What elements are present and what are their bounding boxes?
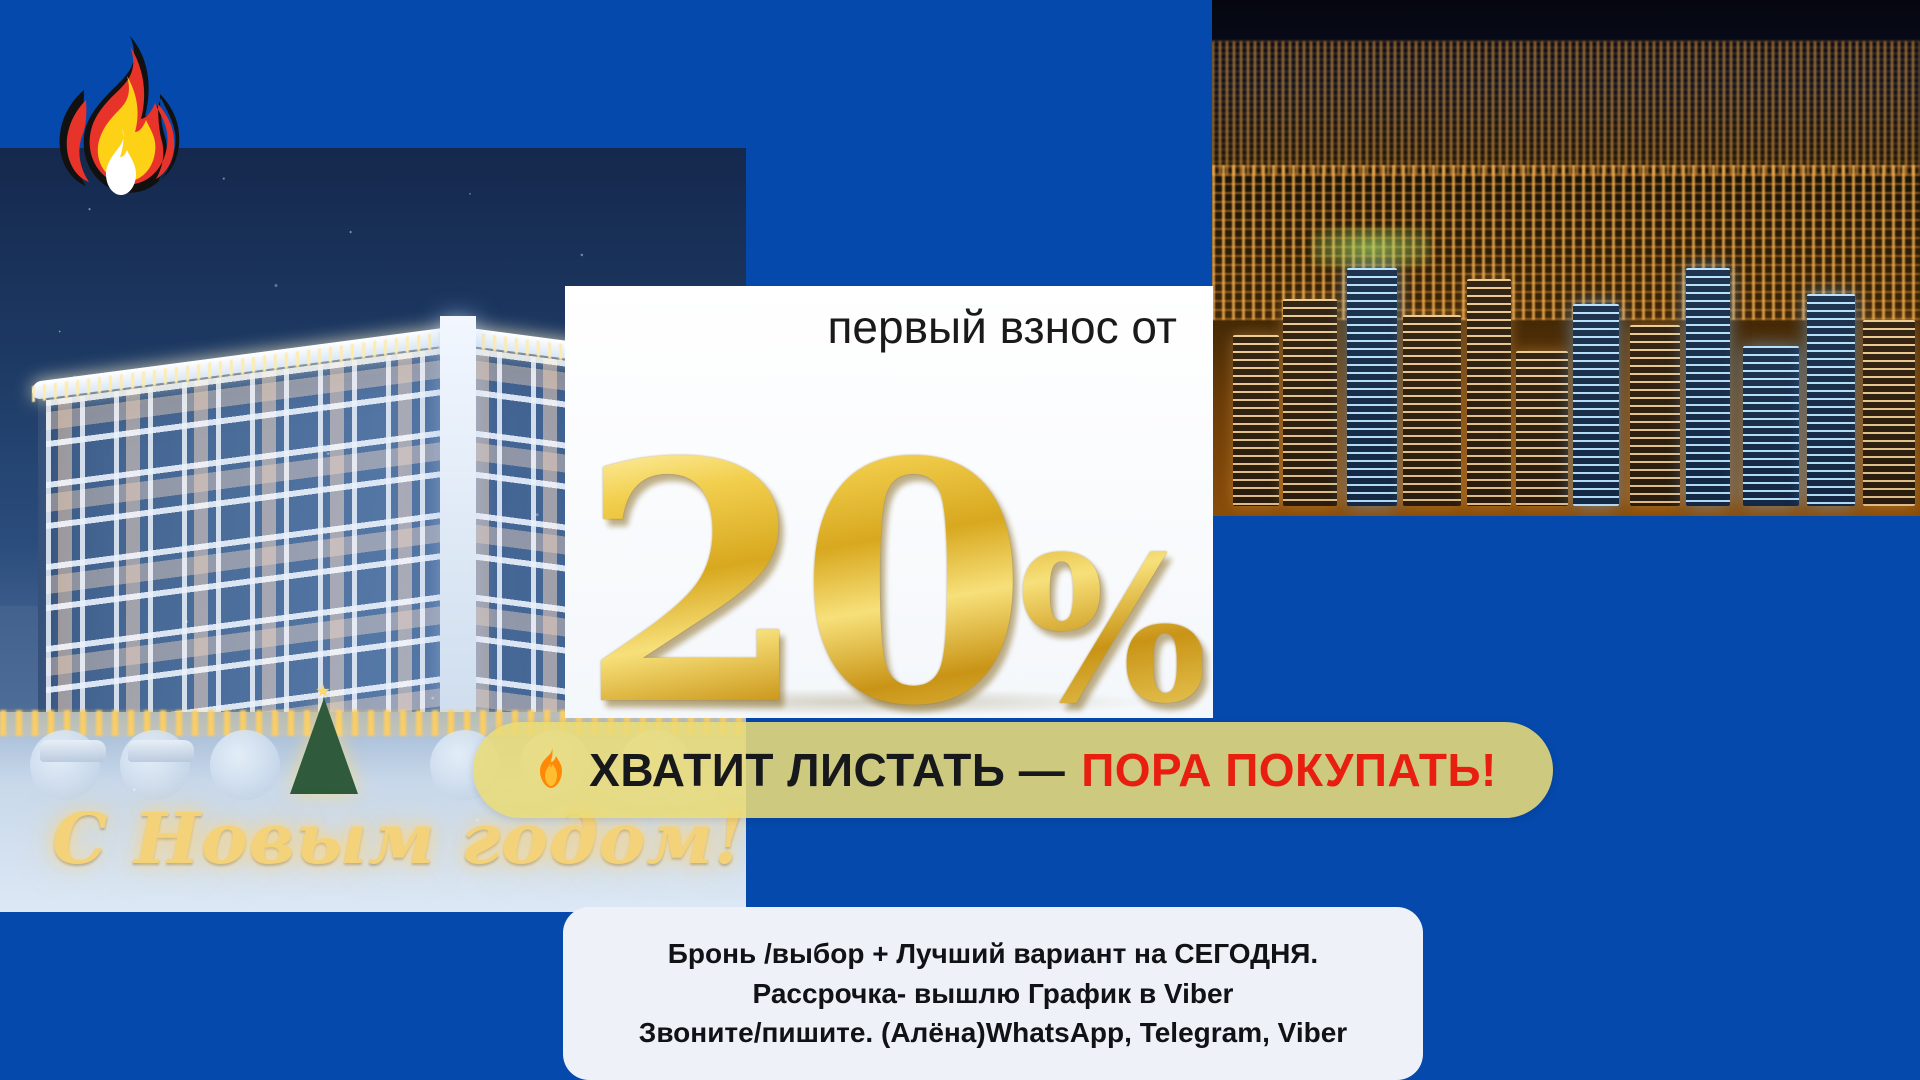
cta-banner[interactable]: ХВАТИТ ЛИСТАТЬ — ПОРА ПОКУПАТЬ! (473, 722, 1553, 818)
contact-line-booking: Бронь /выбор + Лучший вариант на СЕГОДНЯ… (668, 934, 1318, 974)
cta-text-primary: ХВАТИТ ЛИСТАТЬ — (589, 743, 1065, 797)
city-tower (1807, 294, 1855, 506)
down-payment-value: 20% (579, 444, 1202, 719)
city-tower (1743, 346, 1799, 506)
city-tower (1573, 304, 1619, 505)
contact-line-channels: Звоните/пишите. (Алёна)WhatsApp, Telegra… (639, 1013, 1347, 1053)
city-tower (1283, 299, 1337, 505)
city-tower (1347, 268, 1397, 505)
down-payment-caption: первый взнос от (828, 300, 1177, 354)
distant-city-lights (1212, 41, 1920, 175)
city-tower (1630, 325, 1680, 506)
city-tower (1403, 315, 1461, 506)
city-tower (1516, 351, 1568, 506)
percent-sign: % (1018, 513, 1202, 719)
slide-canvas: С Новым годом! первый взнос от 20% (0, 0, 1920, 1080)
contact-info-box[interactable]: Бронь /выбор + Лучший вариант на СЕГОДНЯ… (563, 907, 1423, 1080)
city-tower (1233, 335, 1279, 505)
fire-emoji-icon (44, 32, 194, 222)
city-tower (1467, 279, 1511, 506)
night-cityscape-photo (1212, 0, 1920, 516)
lit-sports-field (1311, 227, 1431, 269)
city-tower (1863, 320, 1915, 506)
contact-line-installments: Рассрочка- вышлю График в Viber (753, 974, 1234, 1014)
fire-icon (529, 743, 573, 797)
city-tower (1686, 268, 1730, 505)
cta-text-accent: ПОРА ПОКУПАТЬ! (1081, 743, 1497, 797)
down-payment-panel: первый взнос от 20% (565, 286, 1213, 718)
percent-number: 20 (579, 390, 1018, 719)
